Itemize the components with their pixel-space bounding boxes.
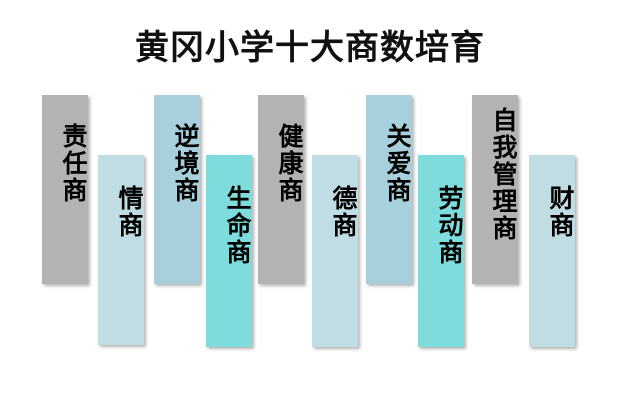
- bar-label: 劳动商: [418, 185, 464, 266]
- bar-label: 关爱商: [366, 123, 412, 204]
- bar-6[interactable]: 德商: [312, 155, 358, 347]
- diagram-canvas: 黄冈小学十大商数培育 责任商情商逆境商生命商健康商德商关爱商劳动商自我管理商财商: [0, 0, 620, 413]
- bar-7[interactable]: 关爱商: [366, 95, 412, 284]
- bar-label: 德商: [312, 185, 358, 239]
- bar-1[interactable]: 责任商: [42, 95, 88, 284]
- bar-label: 责任商: [42, 123, 88, 204]
- bar-label: 财商: [529, 185, 575, 239]
- bar-label: 逆境商: [154, 123, 200, 204]
- bar-label: 健康商: [258, 123, 304, 204]
- bar-2[interactable]: 情商: [98, 155, 144, 345]
- diagram-title: 黄冈小学十大商数培育: [0, 28, 620, 68]
- bar-10[interactable]: 财商: [529, 155, 575, 347]
- bar-8[interactable]: 劳动商: [418, 155, 464, 347]
- bar-label: 自我管理商: [472, 107, 518, 242]
- bar-label: 情商: [98, 185, 144, 239]
- bar-3[interactable]: 逆境商: [154, 95, 200, 284]
- bar-label: 生命商: [206, 185, 252, 266]
- bar-4[interactable]: 生命商: [206, 155, 252, 347]
- bar-5[interactable]: 健康商: [258, 95, 304, 284]
- bar-9[interactable]: 自我管理商: [472, 95, 518, 284]
